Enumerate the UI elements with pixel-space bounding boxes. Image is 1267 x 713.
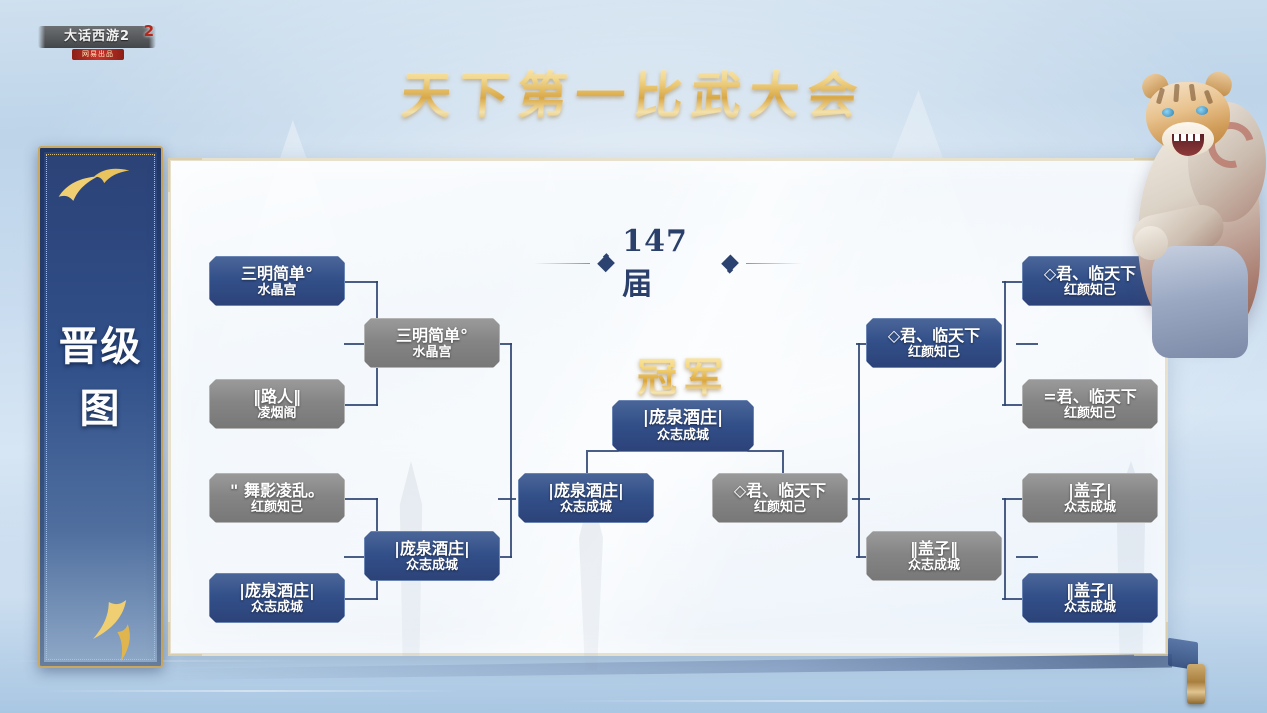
player-guild: 众志成城 [1064,600,1116,616]
champion-card[interactable]: |庞泉酒庄| 众志成城 [612,400,754,452]
player-name: 三明简单° [241,264,313,283]
bracket-connector [498,498,516,500]
player-name: |盖子| [1068,481,1112,500]
bracket-connector [510,343,512,558]
bracket-card[interactable]: |庞泉酒庄| 众志成城 [364,531,500,581]
bracket-card[interactable]: " 舞影凌乱。 红颜知己 [209,473,345,523]
player-name: " 舞影凌乱。 [230,481,324,500]
game-logo-version: 2 [144,22,154,40]
diamond-icon [721,254,739,272]
player-guild: 红颜知己 [251,500,303,516]
player-name: ‖盖子‖ [910,539,958,558]
bracket-card[interactable]: ‖路人‖ 凌烟阁 [209,379,345,429]
player-name: |庞泉酒庄| [394,539,470,558]
bracket-card[interactable]: |庞泉酒庄| 众志成城 [518,473,654,523]
player-guild: 众志成城 [908,558,960,574]
player-guild: 众志成城 [251,600,303,616]
banner-label: 晋级图 [40,316,161,440]
bracket-connector [344,498,378,500]
bracket-connector [1016,556,1038,558]
player-guild: 水晶宫 [412,345,451,361]
bracket-connector [344,281,378,283]
bracket-card[interactable]: ◇君、临天下 红颜知己 [712,473,848,523]
player-guild: 众志成城 [1064,500,1116,516]
bracket-connector [586,452,588,476]
player-name: |庞泉酒庄| [643,409,723,428]
player-guild: 众志成城 [560,500,612,516]
player-name: =君、临天下 [1043,387,1136,406]
player-guild: 水晶宫 [257,283,296,299]
player-guild: 凌烟阁 [257,406,296,422]
bracket-connector [1016,343,1038,345]
bracket-card[interactable]: 三明简单° 水晶宫 [364,318,500,368]
player-guild: 众志成城 [657,428,709,444]
bracket-connector [852,498,870,500]
round-header: 147届 [534,240,802,286]
player-name: 三明简单° [396,326,468,345]
bracket-card[interactable]: ‖盖子‖ 众志成城 [866,531,1002,581]
bracket-card[interactable]: |庞泉酒庄| 众志成城 [209,573,345,623]
bracket-card[interactable]: ◇君、临天下 红颜知己 [866,318,1002,368]
tiger-mascot [1096,30,1267,360]
player-name: ‖盖子‖ [1066,581,1114,600]
player-name: ◇君、临天下 [888,326,980,345]
panel-corner [168,622,202,656]
game-logo-text: 大话西游2 [44,26,150,48]
bracket-connector [344,598,378,600]
panel-corner [168,158,202,192]
bracket-connector [1004,281,1006,406]
bracket-connector [1004,498,1006,600]
player-guild: 红颜知己 [1064,406,1116,422]
player-name: |庞泉酒庄| [548,481,624,500]
page-title: 天下第一比武大会 [0,56,1267,128]
bracket-card[interactable]: |盖子| 众志成城 [1022,473,1158,523]
bracket-connector [344,556,366,558]
bracket-connector [344,343,366,345]
advancement-chart-banner: 晋级图 [38,146,163,668]
bracket-card[interactable]: 三明简单° 水晶宫 [209,256,345,306]
bracket-card[interactable]: =君、临天下 红颜知己 [1022,379,1158,429]
player-name: |庞泉酒庄| [239,581,315,600]
bracket-connector [782,452,784,476]
player-name: ‖路人‖ [253,387,301,406]
panel-corner [1134,622,1168,656]
player-guild: 众志成城 [406,558,458,574]
player-guild: 红颜知己 [908,345,960,361]
player-guild: 红颜知己 [754,500,806,516]
diamond-icon [597,254,615,272]
round-header-text: 147届 [622,224,713,303]
header-rule [746,263,802,264]
player-name: ◇君、临天下 [734,481,826,500]
champion-label: 冠军 [588,345,778,403]
scroll-roller-bottom [1187,664,1205,704]
bracket-card[interactable]: ‖盖子‖ 众志成城 [1022,573,1158,623]
bracket-connector [344,404,378,406]
bracket-connector [858,343,860,558]
header-rule [534,263,590,264]
